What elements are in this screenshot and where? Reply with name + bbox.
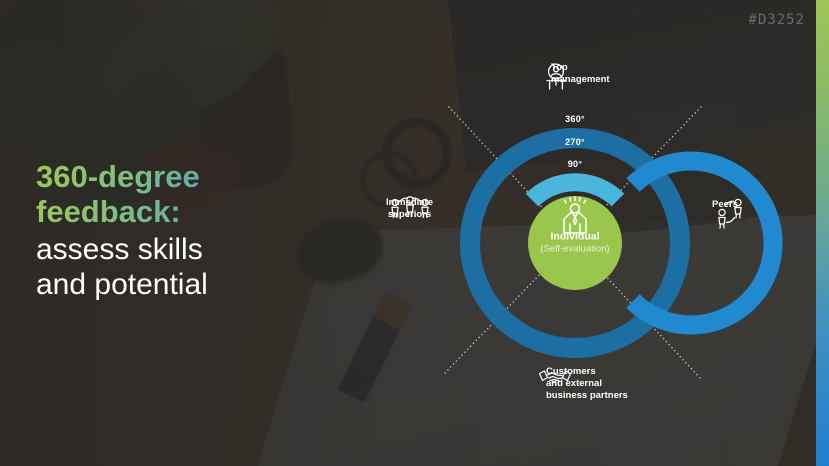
ring-label-90: 90°	[568, 159, 583, 169]
ring-label-360: 360°	[565, 114, 585, 124]
right-accent-bar	[816, 0, 829, 466]
node-peers[interactable]: Peers	[712, 196, 738, 211]
slide-canvas: 360-degree feedback: assess skills and p…	[0, 0, 829, 466]
360-feedback-diagram: .dotline { stroke:#ffffff; stroke-width:…	[0, 0, 829, 466]
center-disc	[528, 196, 622, 290]
node-immediate-superiors[interactable]: Immediate superiors	[386, 194, 433, 221]
watermark-code: #D3252	[748, 12, 805, 28]
node-top-management[interactable]: Top management	[543, 62, 610, 86]
ring-label-270: 270°	[565, 137, 585, 147]
node-customers-partners[interactable]: Customers and external business partners	[538, 366, 628, 402]
diagram-svg: .dotline { stroke:#ffffff; stroke-width:…	[0, 0, 829, 466]
